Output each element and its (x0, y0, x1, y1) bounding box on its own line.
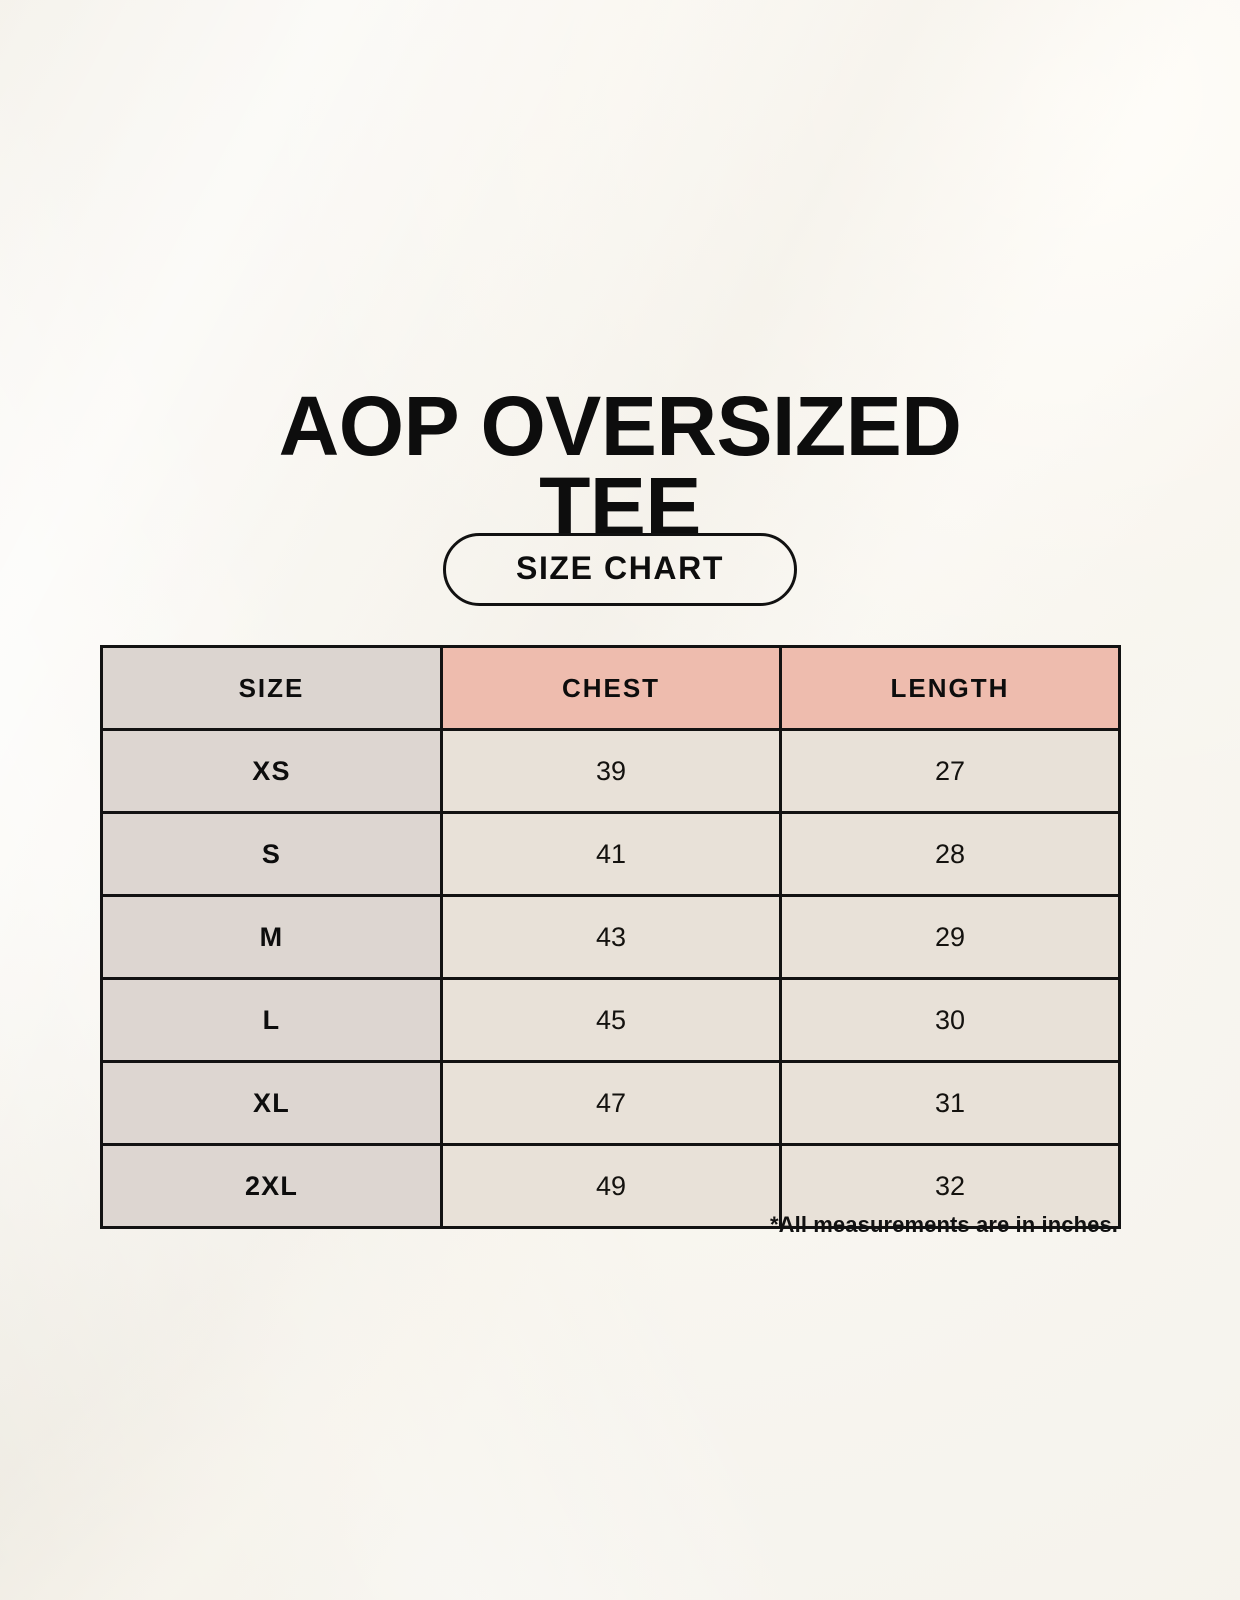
cell-size: M (102, 896, 442, 979)
table-head: SIZE CHEST LENGTH (102, 647, 1120, 730)
column-header-length: LENGTH (781, 647, 1120, 730)
badge-container: SIZE CHART (0, 533, 1240, 606)
cell-size: XS (102, 730, 442, 813)
size-table-container: SIZE CHEST LENGTH XS3927S4128M4329L4530X… (100, 645, 1118, 1229)
page-title: AOP OVERSIZED TEE (0, 386, 1240, 547)
table-row: XL4731 (102, 1062, 1120, 1145)
table-body: XS3927S4128M4329L4530XL47312XL4932 (102, 730, 1120, 1228)
cell-chest: 43 (442, 896, 781, 979)
table-row: M4329 (102, 896, 1120, 979)
table-row: S4128 (102, 813, 1120, 896)
cell-size: S (102, 813, 442, 896)
cell-size: L (102, 979, 442, 1062)
size-table: SIZE CHEST LENGTH XS3927S4128M4329L4530X… (100, 645, 1121, 1229)
table-row: XS3927 (102, 730, 1120, 813)
cell-length: 28 (781, 813, 1120, 896)
table-header-row: SIZE CHEST LENGTH (102, 647, 1120, 730)
column-header-chest: CHEST (442, 647, 781, 730)
size-chart-page: AOP OVERSIZED TEE SIZE CHART SIZE CHEST … (0, 0, 1240, 1600)
cell-length: 30 (781, 979, 1120, 1062)
cell-length: 31 (781, 1062, 1120, 1145)
cell-size: XL (102, 1062, 442, 1145)
cell-chest: 41 (442, 813, 781, 896)
cell-length: 29 (781, 896, 1120, 979)
measurement-footnote: *All measurements are in inches. (100, 1212, 1118, 1238)
table-row: L4530 (102, 979, 1120, 1062)
cell-length: 27 (781, 730, 1120, 813)
size-chart-badge: SIZE CHART (443, 533, 797, 606)
column-header-size: SIZE (102, 647, 442, 730)
cell-chest: 39 (442, 730, 781, 813)
cell-chest: 45 (442, 979, 781, 1062)
cell-chest: 47 (442, 1062, 781, 1145)
